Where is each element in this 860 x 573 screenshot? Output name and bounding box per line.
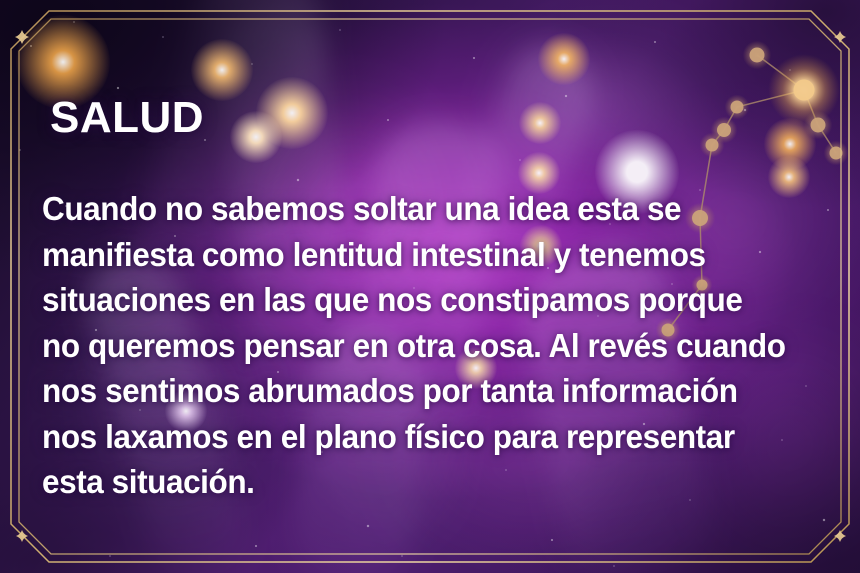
body-line: no queremos pensar en otra cosa. Al revé… — [42, 323, 806, 369]
four-point-sparkle-icon — [16, 530, 28, 542]
body-line: Cuando no sabemos soltar una idea esta s… — [42, 186, 806, 232]
body-line: esta situación. — [42, 459, 806, 505]
horoscope-salud-card: SALUD Cuando no sabemos soltar una idea … — [0, 0, 860, 573]
page-title: SALUD — [50, 93, 204, 143]
body-paragraph: Cuando no sabemos soltar una idea esta s… — [42, 186, 842, 505]
body-line: nos laxamos en el plano físico para repr… — [42, 414, 806, 460]
card-content: SALUD Cuando no sabemos soltar una idea … — [42, 0, 842, 573]
body-line: manifiesta como lentitud intestinal y te… — [42, 232, 806, 278]
body-line: situaciones en las que nos constipamos p… — [42, 277, 806, 323]
four-point-sparkle-icon — [15, 30, 29, 44]
body-line: nos sentimos abrumados por tanta informa… — [42, 368, 806, 414]
